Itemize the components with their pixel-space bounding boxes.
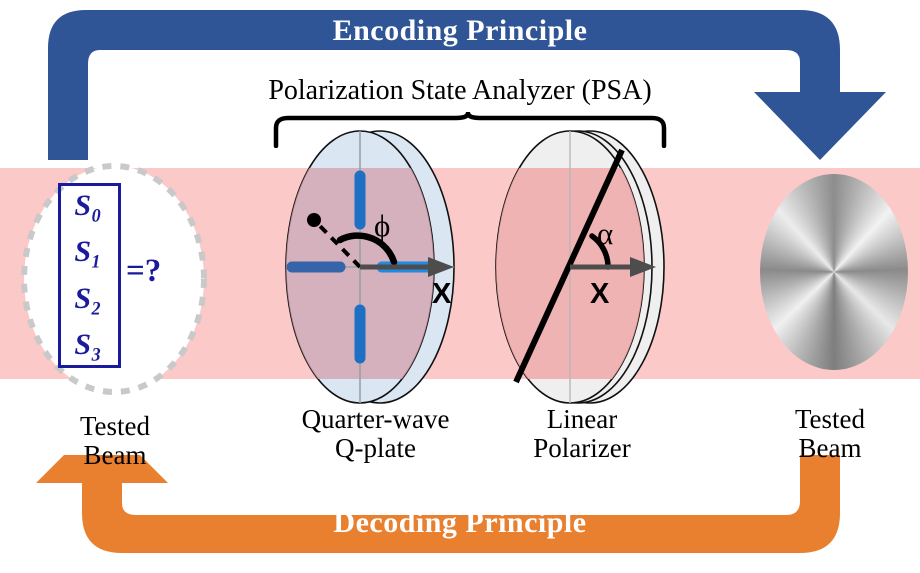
stokes-vector: S₀ S₁ S₂ S₃ =? — [40, 175, 220, 380]
psa-title: Polarization State Analyzer (PSA) — [210, 76, 710, 106]
quarter-wave-plate-icon — [278, 128, 468, 406]
decoding-principle-label: Decoding Principle — [0, 506, 920, 540]
label-linear-polarizer: Linear Polarizer — [482, 405, 682, 463]
linear-polarizer-icon — [488, 128, 678, 406]
stokes-values: S₀ S₁ S₂ S₃ — [58, 183, 118, 368]
stokes-s3: S₃ — [74, 330, 101, 360]
encoding-principle-label: Encoding Principle — [0, 14, 920, 48]
label-tested-beam-input: Tested Beam — [15, 412, 215, 470]
qwp-phi-label: ϕ — [374, 208, 390, 244]
stokes-s2: S₂ — [74, 284, 101, 314]
qwp-fast-axis-dot — [307, 213, 321, 227]
label-quarter-wave-plate: Quarter-wave Q-plate — [258, 405, 493, 463]
polarizer-alpha-label: α — [597, 216, 613, 252]
diagram-canvas: Encoding Principle Decoding Principle Po… — [0, 0, 920, 573]
label-tested-beam-output: Tested Beam — [740, 405, 920, 463]
polarizer-x-label: X — [590, 278, 609, 311]
stokes-equals-unknown: =? — [126, 255, 161, 288]
qwp-x-label: X — [432, 278, 451, 311]
stokes-s1: S₁ — [74, 237, 101, 267]
stokes-s0: S₀ — [74, 191, 101, 221]
vortex-beam-disk-icon — [760, 174, 908, 370]
